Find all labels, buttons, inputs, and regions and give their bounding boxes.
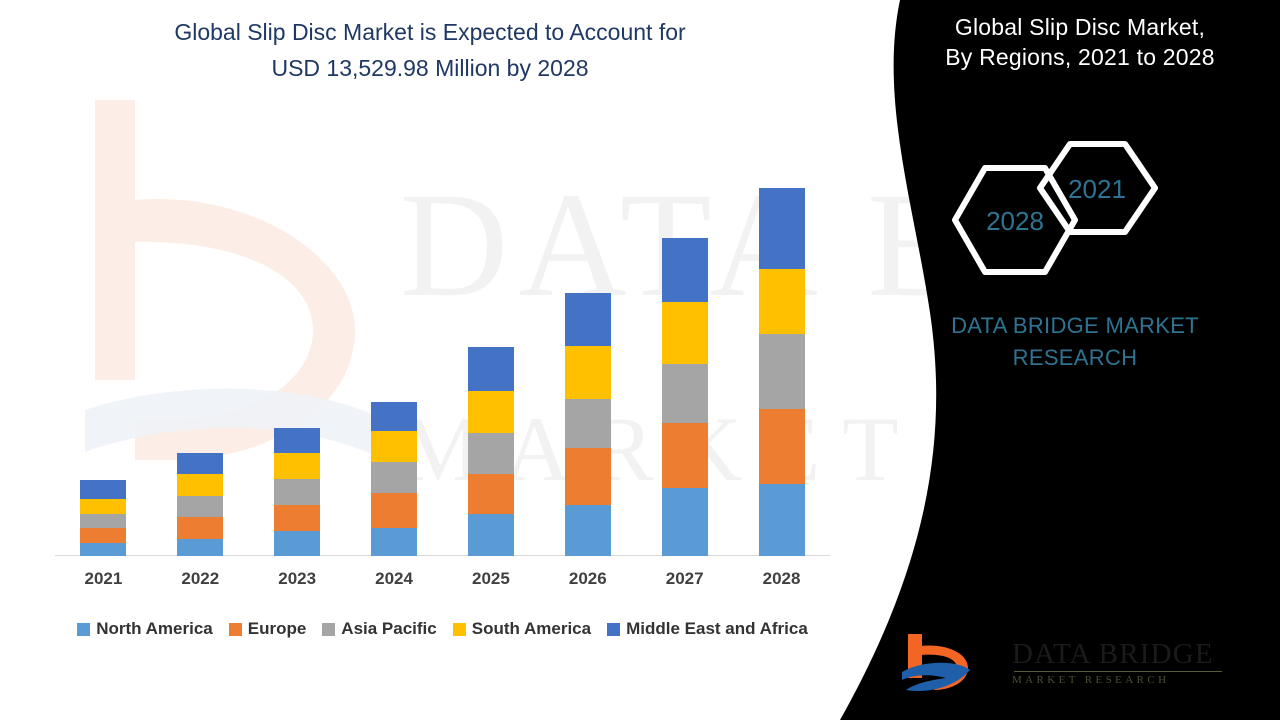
bar-segment-middle-east-and-africa[interactable] [80, 480, 126, 499]
bar-segment-middle-east-and-africa[interactable] [371, 402, 417, 431]
bar-segment-south-america[interactable] [371, 431, 417, 462]
bar-column-2024 [347, 80, 442, 556]
bar-segment-europe[interactable] [177, 517, 223, 539]
bar-segment-middle-east-and-africa[interactable] [274, 428, 320, 453]
stacked-bar[interactable] [80, 480, 126, 556]
bar-segment-asia-pacific[interactable] [565, 399, 611, 448]
x-axis-label-2024: 2024 [347, 566, 442, 596]
bar-segment-middle-east-and-africa[interactable] [662, 238, 708, 302]
bar-column-2026 [540, 80, 635, 556]
bar-segment-north-america[interactable] [468, 514, 514, 556]
x-axis-label-2025: 2025 [443, 566, 538, 596]
stacked-bar[interactable] [662, 238, 708, 556]
databridge-logo: DATA BRIDGE MARKET RESEARCH [900, 632, 1260, 702]
bar-segment-asia-pacific[interactable] [759, 334, 805, 409]
bar-segment-south-america[interactable] [177, 474, 223, 496]
panel-title: Global Slip Disc Market, By Regions, 202… [900, 12, 1260, 72]
bar-segment-south-america[interactable] [759, 269, 805, 334]
bar-segment-middle-east-and-africa[interactable] [759, 188, 805, 269]
hexagon-2021-label: 2021 [1068, 174, 1126, 204]
bar-segment-south-america[interactable] [468, 391, 514, 433]
legend-item-asia-pacific[interactable]: Asia Pacific [322, 619, 436, 639]
brand-line-2: RESEARCH [880, 342, 1270, 374]
bar-column-2027 [637, 80, 732, 556]
logo-tagline: MARKET RESEARCH [1012, 674, 1222, 687]
legend-label: Europe [248, 619, 307, 639]
brand-line-1: DATA BRIDGE MARKET [880, 310, 1270, 342]
x-axis-label-2023: 2023 [250, 566, 345, 596]
logo-divider [1014, 671, 1222, 672]
bar-segment-north-america[interactable] [662, 488, 708, 556]
bar-segment-south-america[interactable] [274, 453, 320, 479]
chart-title: Global Slip Disc Market is Expected to A… [65, 14, 795, 86]
bar-segment-middle-east-and-africa[interactable] [468, 347, 514, 391]
bar-column-2025 [443, 80, 538, 556]
bar-segment-asia-pacific[interactable] [274, 479, 320, 505]
bar-column-2028 [734, 80, 829, 556]
bar-segment-europe[interactable] [662, 423, 708, 488]
legend-swatch-icon [229, 623, 242, 636]
legend-swatch-icon [453, 623, 466, 636]
bar-segment-north-america[interactable] [274, 531, 320, 556]
right-green-panel: Global Slip Disc Market, By Regions, 202… [840, 0, 1280, 720]
x-axis-labels: 20212022202320242025202620272028 [55, 566, 830, 596]
bar-segment-north-america[interactable] [565, 505, 611, 556]
bar-segment-asia-pacific[interactable] [371, 462, 417, 493]
legend-item-middle-east-and-africa[interactable]: Middle East and Africa [607, 619, 808, 639]
bar-segment-middle-east-and-africa[interactable] [177, 453, 223, 474]
x-axis-label-2021: 2021 [56, 566, 151, 596]
panel-title-line-2: By Regions, 2021 to 2028 [900, 42, 1260, 72]
legend-label: North America [96, 619, 213, 639]
stacked-bar[interactable] [177, 453, 223, 556]
x-axis-label-2022: 2022 [153, 566, 248, 596]
x-axis-label-2026: 2026 [540, 566, 635, 596]
logo-name: DATA BRIDGE [1012, 638, 1222, 670]
bar-column-2022 [153, 80, 248, 556]
bar-segment-north-america[interactable] [759, 484, 805, 556]
stacked-bar[interactable] [468, 347, 514, 556]
bar-segment-europe[interactable] [468, 474, 514, 514]
bar-segment-north-america[interactable] [371, 528, 417, 556]
bar-segment-europe[interactable] [80, 528, 126, 543]
bar-segment-north-america[interactable] [80, 543, 126, 556]
hexagon-group: 2028 2021 [945, 138, 1245, 298]
legend-item-europe[interactable]: Europe [229, 619, 307, 639]
bar-column-2023 [250, 80, 345, 556]
brand-name: DATA BRIDGE MARKET RESEARCH [880, 310, 1270, 374]
bar-segment-middle-east-and-africa[interactable] [565, 293, 611, 346]
x-axis-label-2028: 2028 [734, 566, 829, 596]
bar-segment-asia-pacific[interactable] [80, 514, 126, 528]
legend-item-north-america[interactable]: North America [77, 619, 213, 639]
stacked-bar[interactable] [274, 428, 320, 556]
x-axis-label-2027: 2027 [637, 566, 732, 596]
legend-swatch-icon [322, 623, 335, 636]
stacked-bar[interactable] [759, 188, 805, 556]
bar-segment-south-america[interactable] [565, 346, 611, 399]
bar-segment-north-america[interactable] [177, 539, 223, 556]
legend-label: Asia Pacific [341, 619, 436, 639]
bar-segment-south-america[interactable] [662, 302, 708, 364]
bar-segment-asia-pacific[interactable] [662, 364, 708, 423]
bar-segment-europe[interactable] [565, 448, 611, 505]
logo-wordmark: DATA BRIDGE MARKET RESEARCH [1012, 638, 1222, 687]
legend-label: Middle East and Africa [626, 619, 808, 639]
bar-segment-south-america[interactable] [80, 499, 126, 514]
panel-title-line-1: Global Slip Disc Market, [900, 12, 1260, 42]
stacked-bar[interactable] [371, 402, 417, 556]
hexagon-2028-label: 2028 [986, 206, 1044, 236]
bar-segment-europe[interactable] [371, 493, 417, 528]
bar-chart-plot [55, 80, 830, 556]
bar-column-2021 [56, 80, 151, 556]
bar-segment-europe[interactable] [274, 505, 320, 531]
bar-segment-asia-pacific[interactable] [177, 496, 223, 517]
chart-title-line-1: Global Slip Disc Market is Expected to A… [65, 14, 795, 50]
logo-mark-icon [900, 632, 972, 698]
slide-canvas: DATA BRIDGE MARKET RESEARCH Global Slip … [0, 0, 1280, 720]
legend-item-south-america[interactable]: South America [453, 619, 591, 639]
legend-swatch-icon [607, 623, 620, 636]
stacked-bar[interactable] [565, 293, 611, 556]
legend-label: South America [472, 619, 591, 639]
legend-swatch-icon [77, 623, 90, 636]
bar-segment-asia-pacific[interactable] [468, 433, 514, 474]
bar-segment-europe[interactable] [759, 409, 805, 484]
chart-legend: North AmericaEuropeAsia PacificSouth Ame… [55, 616, 830, 642]
